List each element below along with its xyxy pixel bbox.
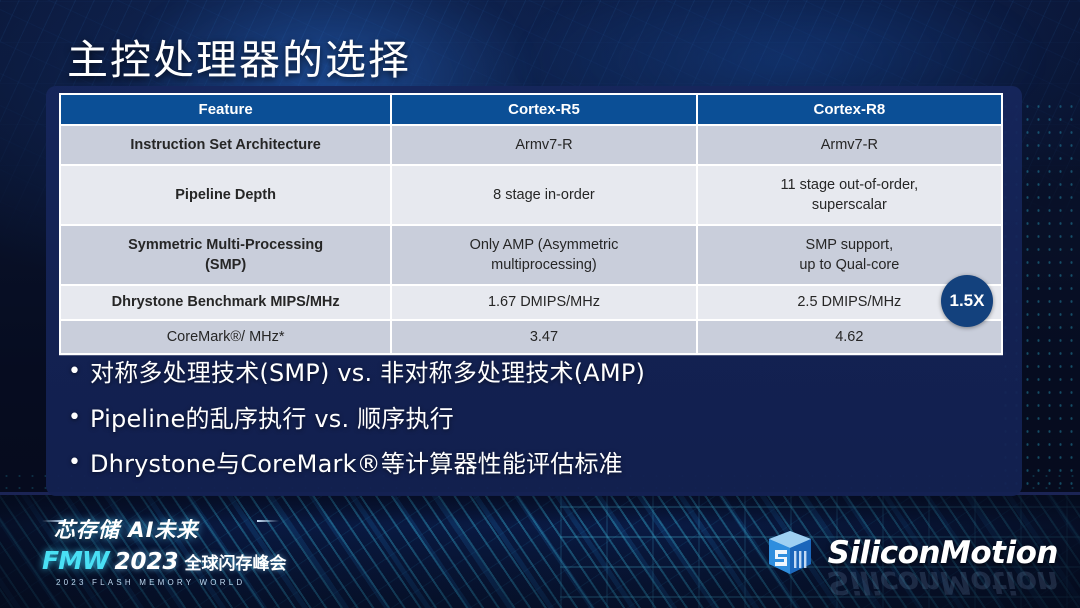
event-name-en: 2023 FLASH MEMORY WORLD: [42, 578, 287, 587]
cell-r5: 8 stage in-order: [392, 166, 695, 224]
cell-feature: CoreMark®/ MHz*: [61, 321, 390, 354]
comparison-table: Feature Cortex-R5 Cortex-R8 Instruction …: [59, 93, 1003, 355]
slide-canvas: 主控处理器的选择 Feature Cortex-R5 Cortex-R8 Ins…: [0, 0, 1080, 608]
event-logo: 芯存储 AI未来 FMW 2023 全球闪存峰会 2023 FLASH MEMO…: [42, 514, 287, 592]
cell-feature: Symmetric Multi-Processing(SMP): [61, 226, 390, 284]
logo-tick-right: [257, 520, 279, 522]
table-row: Symmetric Multi-Processing(SMP) Only AMP…: [61, 226, 1001, 284]
logo-tick-left: [42, 520, 64, 522]
cell-feature: Pipeline Depth: [61, 166, 390, 224]
list-item: • Pipeline的乱序执行 vs. 顺序执行: [68, 404, 968, 435]
event-brand: FMW: [42, 546, 109, 575]
event-year: 2023: [115, 549, 179, 575]
cell-r8: SMP support,up to Qual-core: [698, 226, 1001, 284]
table-header-cortex-r5: Cortex-R5: [392, 95, 695, 124]
list-item: • 对称多处理技术(SMP) vs. 非对称多处理技术(AMP): [68, 358, 968, 389]
cell-feature: Instruction Set Architecture: [61, 126, 390, 164]
list-item-label: Dhrystone与CoreMark®等计算器性能评估标准: [90, 449, 968, 480]
bullet-dot-icon: •: [68, 404, 90, 432]
event-title-row: FMW 2023 全球闪存峰会: [42, 546, 287, 575]
list-item: • Dhrystone与CoreMark®等计算器性能评估标准: [68, 449, 968, 480]
bullet-list: • 对称多处理技术(SMP) vs. 非对称多处理技术(AMP) • Pipel…: [68, 358, 968, 495]
table-header-cortex-r8: Cortex-R8: [698, 95, 1001, 124]
cell-r5: 1.67 DMIPS/MHz: [392, 286, 695, 319]
table-row: Instruction Set Architecture Armv7-R Arm…: [61, 126, 1001, 164]
bullet-dot-icon: •: [68, 358, 90, 386]
table-header-feature: Feature: [61, 95, 390, 124]
table-row: Dhrystone Benchmark MIPS/MHz 1.67 DMIPS/…: [61, 286, 1001, 319]
cell-r5: Armv7-R: [392, 126, 695, 164]
cell-r8: 11 stage out-of-order,superscalar: [698, 166, 1001, 224]
page-title: 主控处理器的选择: [67, 26, 411, 86]
table-row: CoreMark®/ MHz* 3.47 4.62: [61, 321, 1001, 354]
event-name-cn: 全球闪存峰会: [185, 549, 287, 574]
company-name-reflection: SiliconMotion: [828, 564, 1058, 600]
cell-r8: Armv7-R: [698, 126, 1001, 164]
cell-r8: 4.62: [698, 321, 1001, 354]
cell-r5: 3.47: [392, 321, 695, 354]
list-item-label: Pipeline的乱序执行 vs. 顺序执行: [90, 404, 968, 435]
table-row: Pipeline Depth 8 stage in-order 11 stage…: [61, 166, 1001, 224]
event-tagline: 芯存储 AI未来: [42, 514, 287, 544]
status-badge: 1.5X: [941, 275, 993, 327]
bullet-dot-icon: •: [68, 449, 90, 477]
siliconmotion-cube-icon: [765, 528, 815, 578]
cell-feature: Dhrystone Benchmark MIPS/MHz: [61, 286, 390, 319]
cell-r5: Only AMP (Asymmetricmultiprocessing): [392, 226, 695, 284]
table-header-row: Feature Cortex-R5 Cortex-R8: [61, 95, 1001, 124]
list-item-label: 对称多处理技术(SMP) vs. 非对称多处理技术(AMP): [90, 358, 968, 389]
